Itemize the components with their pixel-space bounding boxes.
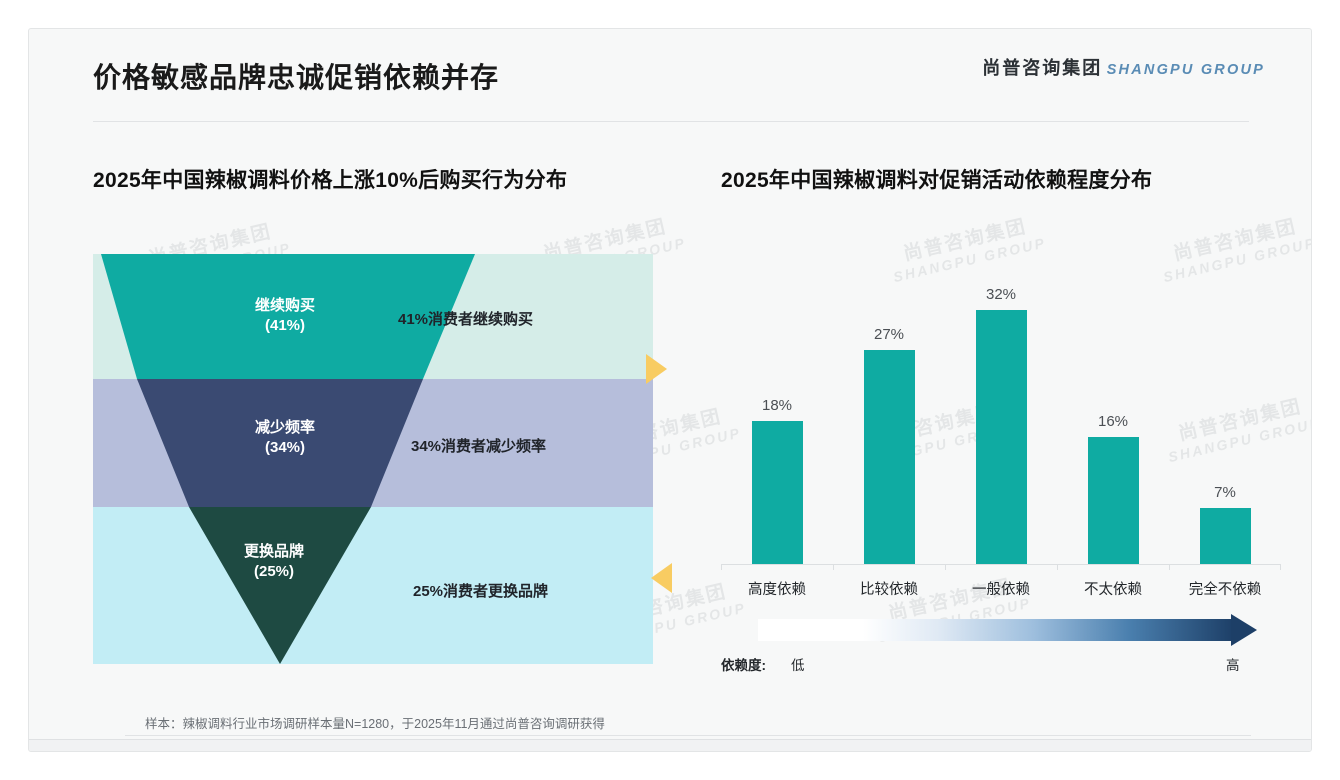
bar-group[interactable]: 27% xyxy=(833,234,945,564)
bar-group[interactable]: 32% xyxy=(945,234,1057,564)
dependency-gradient-legend: 依赖度: 低 高 xyxy=(721,619,1281,681)
brand-logo: 尚普咨询集团 SHANGPU GROUP xyxy=(982,58,1265,79)
bar-value-label: 27% xyxy=(874,326,904,343)
legend-title: 依赖度: xyxy=(721,654,766,674)
triangle-left-icon xyxy=(651,563,672,593)
x-axis-tick xyxy=(1280,565,1281,570)
funnel-shape xyxy=(93,254,653,669)
page-title: 价格敏感品牌忠诚促销依赖并存 xyxy=(93,56,499,96)
legend-low-label: 低 xyxy=(791,654,805,674)
bar-rect[interactable] xyxy=(752,421,803,564)
logo-english-text: SHANGPU GROUP xyxy=(1107,62,1265,78)
x-axis-label: 一般依赖 xyxy=(945,578,1057,599)
gradient-arrow-head-icon xyxy=(1231,614,1257,646)
sample-note-divider xyxy=(125,735,1251,736)
x-axis-tick xyxy=(1169,565,1170,570)
header-divider xyxy=(93,121,1249,122)
x-axis-tick xyxy=(945,565,946,570)
sample-note: 样本：辣椒调料行业市场调研样本量N=1280，于2025年11月通过尚普咨询调研… xyxy=(145,713,605,732)
bar-group[interactable]: 18% xyxy=(721,234,833,564)
triangle-right-icon xyxy=(646,354,667,384)
slide-canvas: 价格敏感品牌忠诚促销依赖并存 尚普咨询集团 SHANGPU GROUP 2025… xyxy=(28,28,1312,752)
right-chart-title: 2025年中国辣椒调料对促销活动依赖程度分布 xyxy=(721,164,1152,194)
bar-rect[interactable] xyxy=(1088,437,1139,564)
bar-value-label: 16% xyxy=(1098,413,1128,430)
funnel-note-3: 25%消费者更换品牌 xyxy=(413,580,548,601)
bar-plot-area: 18% 27% 32% 16% 7% xyxy=(721,234,1281,564)
x-axis-label: 高度依赖 xyxy=(721,578,833,599)
bar-value-label: 18% xyxy=(762,397,792,414)
funnel-note-2: 34%消费者减少频率 xyxy=(411,435,546,456)
bar-group[interactable]: 7% xyxy=(1169,234,1281,564)
bar-value-label: 32% xyxy=(986,286,1016,303)
legend-high-label: 高 xyxy=(1226,654,1240,674)
x-axis-tick xyxy=(1057,565,1058,570)
x-axis-tick xyxy=(721,565,722,570)
funnel-chart: 继续购买 (41%) 减少频率 (34%) 更换品牌 (25%) 41%消费者继… xyxy=(93,254,653,669)
bar-rect[interactable] xyxy=(1200,508,1251,564)
logo-chinese-text: 尚普咨询集团 xyxy=(982,58,1102,78)
x-axis-label: 比较依赖 xyxy=(833,578,945,599)
funnel-segment-2 xyxy=(137,379,423,507)
x-axis-line xyxy=(721,564,1281,565)
bar-value-label: 7% xyxy=(1214,484,1236,501)
funnel-segment-3 xyxy=(189,507,371,664)
bar-rect[interactable] xyxy=(976,310,1027,564)
bar-rect[interactable] xyxy=(864,350,915,564)
slide-footer: ©2026.1 SHANGPU GROUP www.shangpu-china.… xyxy=(29,740,1311,752)
x-axis-label: 完全不依赖 xyxy=(1169,578,1281,599)
slide-header: 价格敏感品牌忠诚促销依赖并存 尚普咨询集团 SHANGPU GROUP xyxy=(29,29,1311,122)
bar-chart: 18% 27% 32% 16% 7% xyxy=(721,234,1281,624)
left-chart-title: 2025年中国辣椒调料价格上涨10%后购买行为分布 xyxy=(93,164,567,194)
gradient-bar xyxy=(758,619,1234,641)
x-axis-tick xyxy=(833,565,834,570)
x-axis-label: 不太依赖 xyxy=(1057,578,1169,599)
funnel-note-1: 41%消费者继续购买 xyxy=(398,308,533,329)
bar-group[interactable]: 16% xyxy=(1057,234,1169,564)
